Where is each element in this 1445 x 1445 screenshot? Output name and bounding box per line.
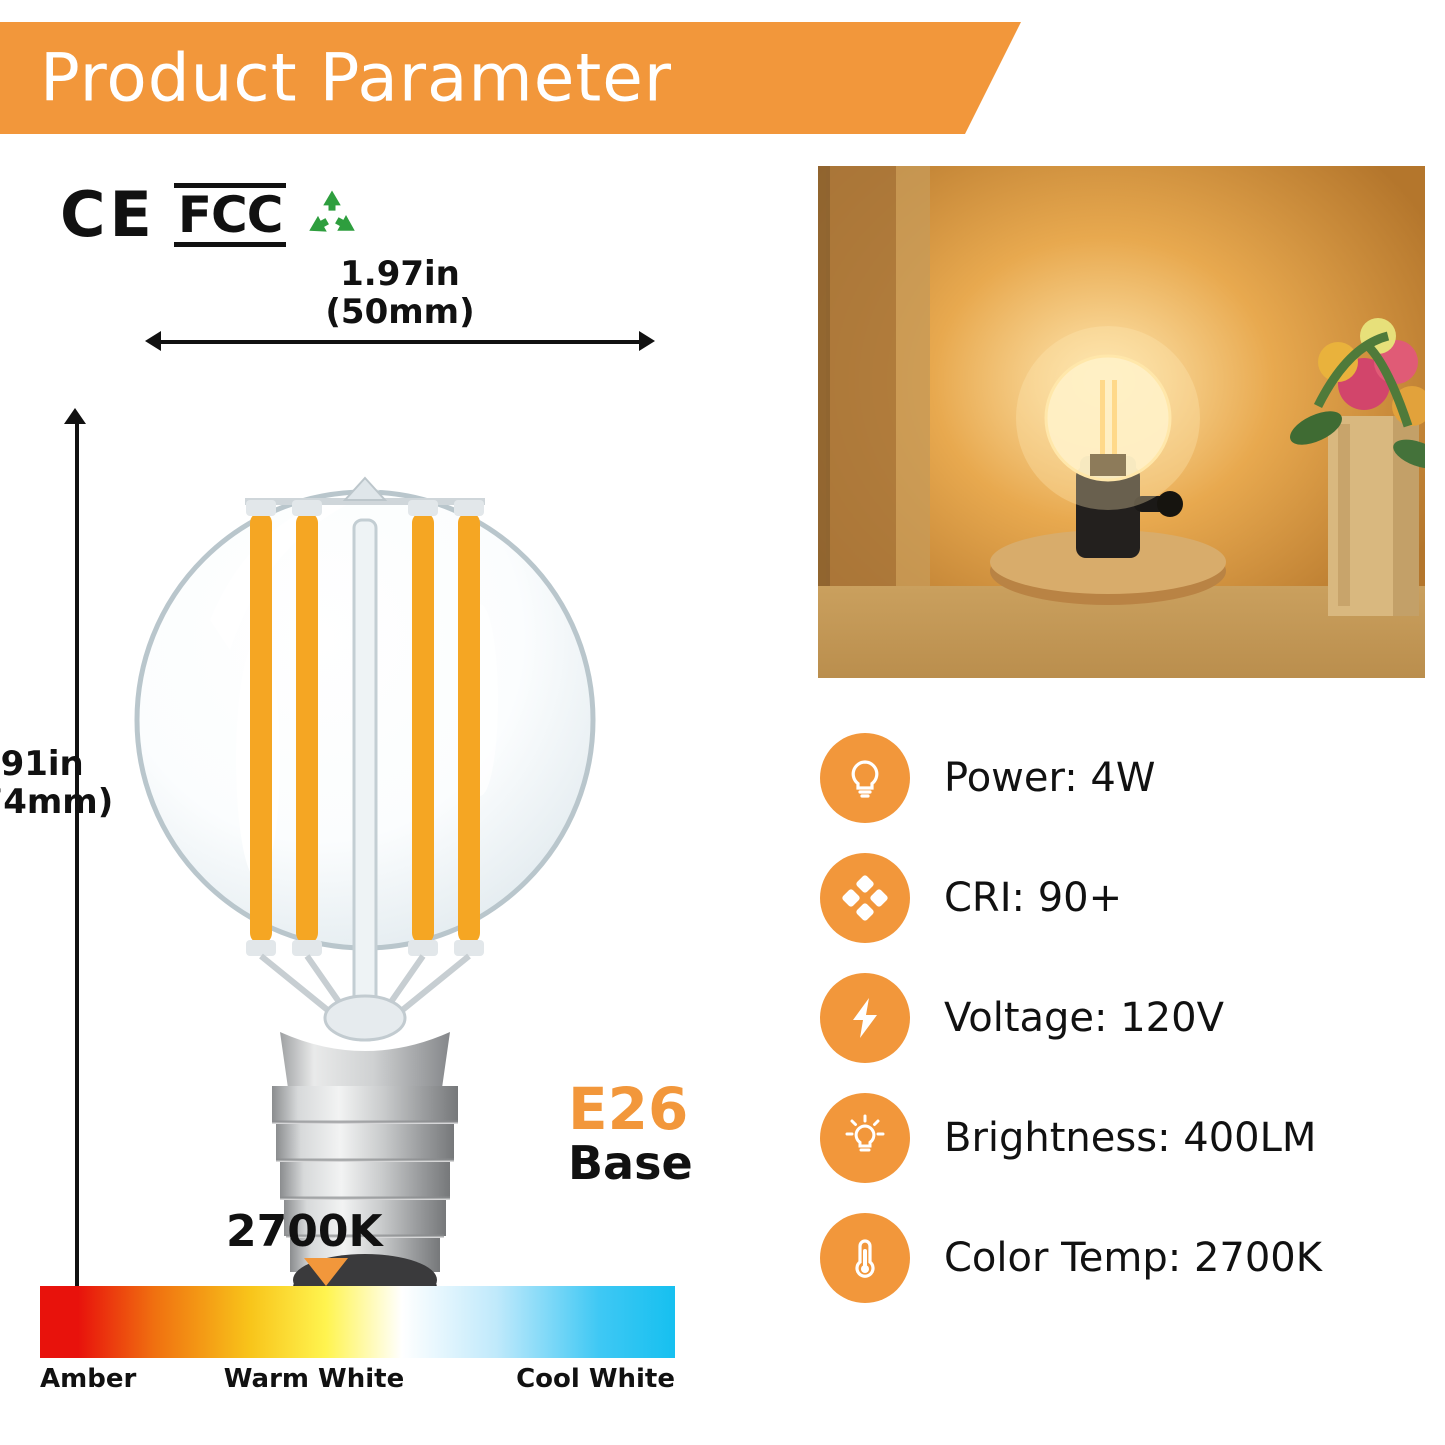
spec-row-voltage: Voltage: 120V (820, 958, 1430, 1078)
bulb-diagram: 1.97in (50mm) 2.91in (74mm) (0, 290, 760, 1280)
spec-text-voltage: Voltage: 120V (944, 995, 1224, 1041)
page-title: Product Parameter (40, 40, 672, 117)
base-code: E26 (568, 1080, 693, 1138)
spec-row-color-temp: Color Temp: 2700K (820, 1198, 1430, 1318)
scale-label-cool-white: Cool White (516, 1364, 675, 1394)
base-word: Base (568, 1138, 693, 1189)
recycle-icon (304, 187, 360, 243)
spec-row-cri: CRI: 90+ (820, 838, 1430, 958)
brightness-icon (820, 1093, 910, 1183)
color-temp-pointer-icon (304, 1258, 348, 1286)
scale-label-warm-white: Warm White (224, 1364, 404, 1394)
width-secondary-label: (50mm) (145, 293, 655, 331)
arrow-line (75, 420, 79, 1296)
color-temp-badge: 2700K (226, 1206, 383, 1257)
height-primary-label: 2.91in (0, 745, 124, 783)
spec-text-cri: CRI: 90+ (944, 875, 1122, 921)
spec-text-color-temp: Color Temp: 2700K (944, 1235, 1322, 1281)
width-arrow (145, 330, 655, 352)
width-primary-label: 1.97in (145, 255, 655, 293)
spec-text-brightness: Brightness: 400LM (944, 1115, 1316, 1161)
base-type-label: E26 Base (568, 1080, 693, 1189)
scale-label-amber: Amber (40, 1364, 136, 1394)
color-temp-gradient-bar (40, 1286, 675, 1358)
product-lifestyle-photo (818, 166, 1425, 678)
width-dimension: 1.97in (50mm) (145, 330, 655, 352)
spec-row-power: Power: 4W (820, 718, 1430, 838)
spec-list: Power: 4W CRI: 90+ Voltage: 120V (820, 718, 1430, 1318)
arrow-line (157, 340, 643, 344)
page-header-banner: Product Parameter (0, 22, 965, 134)
height-dimension-arrow (64, 408, 90, 1308)
ce-icon: CE (60, 184, 156, 246)
bolt-icon (820, 973, 910, 1063)
thermometer-icon (820, 1213, 910, 1303)
bulb-icon (820, 733, 910, 823)
certification-logos: CE FCC (60, 180, 360, 250)
spec-row-brightness: Brightness: 400LM (820, 1078, 1430, 1198)
bulb-illustration (130, 400, 600, 1340)
spec-text-power: Power: 4W (944, 755, 1155, 801)
fcc-icon: FCC (174, 183, 287, 247)
cri-diamond-icon (820, 853, 910, 943)
height-secondary-label: (74mm) (0, 783, 124, 821)
arrow-head-right-icon (639, 331, 655, 351)
height-dimension-label: 2.91in (74mm) (0, 745, 124, 821)
